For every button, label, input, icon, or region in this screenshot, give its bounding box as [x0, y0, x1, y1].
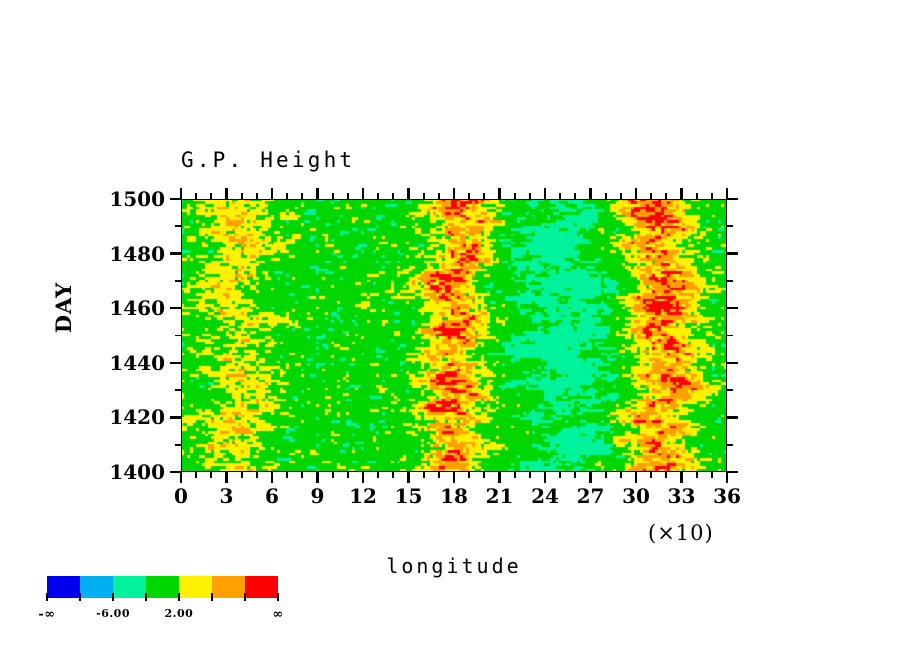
x-axis-tick — [514, 193, 516, 199]
y-axis-tick — [175, 444, 181, 446]
y-axis-tick — [175, 335, 181, 337]
x-axis-tick — [195, 193, 197, 199]
x-axis-tick — [332, 193, 334, 199]
x-axis-tick — [589, 188, 591, 199]
x-axis-tick — [726, 472, 728, 483]
x-axis-tick — [650, 193, 652, 199]
x-axis-tick — [680, 188, 682, 199]
x-axis-tick — [423, 472, 425, 478]
x-axis-tick — [559, 472, 561, 478]
colorbar-label: -6.00 — [96, 607, 130, 620]
colorbar-tick — [244, 593, 246, 601]
y-axis-tick — [170, 252, 181, 254]
x-axis-tick — [347, 193, 349, 199]
x-axis-tick — [392, 472, 394, 478]
x-axis-tick-label: 33 — [668, 484, 696, 508]
x-axis-tick — [377, 193, 379, 199]
x-axis-tick-label: 9 — [311, 484, 325, 508]
x-axis-tick — [301, 472, 303, 478]
x-axis-tick — [696, 193, 698, 199]
colorbar-label: 2.00 — [164, 607, 193, 620]
x-axis-tick — [574, 472, 576, 478]
x-axis-tick — [468, 193, 470, 199]
x-axis-tick — [362, 472, 364, 483]
x-axis-tick — [438, 193, 440, 199]
y-axis-tick — [170, 416, 181, 418]
x-axis-tick — [574, 193, 576, 199]
x-axis-tick-label: 3 — [220, 484, 234, 508]
x-axis-tick — [711, 472, 713, 478]
x-axis-tick — [407, 472, 409, 483]
x-axis-tick — [286, 193, 288, 199]
colorbar-band — [47, 576, 80, 598]
x-axis-tick — [544, 472, 546, 483]
y-axis-tick — [175, 389, 181, 391]
x-axis-tick — [453, 188, 455, 199]
x-axis-tick — [210, 193, 212, 199]
x-axis-tick — [635, 472, 637, 483]
x-axis-tick — [529, 193, 531, 199]
x-axis-tick — [210, 472, 212, 478]
y-axis-tick-label: 1460 — [0, 296, 165, 320]
x-axis-tick — [225, 188, 227, 199]
colorbar-band — [179, 576, 212, 598]
x-axis-tick — [241, 472, 243, 478]
x-axis-tick — [392, 193, 394, 199]
colorbar-tick — [112, 593, 114, 601]
x-axis-tick — [650, 472, 652, 478]
x-axis-tick — [680, 472, 682, 483]
colorbar-tick — [277, 593, 279, 601]
x-axis-tick — [347, 472, 349, 478]
y-axis-tick — [727, 471, 738, 473]
colorbar-tick — [79, 593, 81, 601]
y-axis-tick — [175, 225, 181, 227]
colorbar-label: -∞ — [38, 607, 55, 622]
y-axis-tick — [170, 471, 181, 473]
page-title: G.P. Height — [181, 148, 355, 172]
x-axis-tick — [514, 472, 516, 478]
x-axis-tick — [316, 188, 318, 199]
y-axis-tick — [727, 362, 738, 364]
y-axis-tick — [727, 335, 733, 337]
x-axis-tick — [635, 188, 637, 199]
colorbar-band — [113, 576, 146, 598]
x-axis-tick — [529, 472, 531, 478]
colorbar-tick — [145, 593, 147, 601]
x-axis-title: longitude — [181, 554, 727, 578]
x-axis-tick — [498, 188, 500, 199]
x-axis-tick — [256, 472, 258, 478]
x-axis-tick — [256, 193, 258, 199]
x-axis-tick-label: 30 — [622, 484, 650, 508]
x-axis-tick — [377, 472, 379, 478]
x-axis-tick — [286, 472, 288, 478]
x-axis-tick — [483, 193, 485, 199]
x-axis-tick — [225, 472, 227, 483]
x-axis-tick — [316, 472, 318, 483]
x-axis-tick-label: 27 — [577, 484, 605, 508]
x-axis-tick-label: 24 — [531, 484, 559, 508]
colorbar-band — [245, 576, 278, 598]
y-axis-tick — [727, 444, 733, 446]
x-axis-tick — [180, 472, 182, 483]
x-axis-multiplier-label: (×10) — [648, 521, 714, 545]
x-axis-tick — [665, 193, 667, 199]
y-axis-tick-label: 1440 — [0, 351, 165, 375]
x-axis-tick — [271, 472, 273, 483]
x-axis-tick — [453, 472, 455, 483]
y-axis-tick — [727, 252, 738, 254]
x-axis-tick — [362, 188, 364, 199]
x-axis-tick-label: 0 — [174, 484, 188, 508]
x-axis-tick — [498, 472, 500, 483]
y-axis-tick — [727, 198, 738, 200]
x-axis-tick-label: 12 — [349, 484, 377, 508]
colorbar-band — [146, 576, 179, 598]
y-axis-tick-label: 1400 — [0, 460, 165, 484]
x-axis-tick — [332, 472, 334, 478]
x-axis-tick — [711, 193, 713, 199]
y-axis-tick — [175, 280, 181, 282]
x-axis-tick — [696, 472, 698, 478]
y-axis-tick — [727, 307, 738, 309]
x-axis-tick-label: 6 — [265, 484, 279, 508]
x-axis-tick — [589, 472, 591, 483]
x-axis-tick — [301, 193, 303, 199]
x-axis-tick-label: 18 — [440, 484, 468, 508]
y-axis-tick-label: 1420 — [0, 405, 165, 429]
y-axis-tick — [727, 389, 733, 391]
colorbar-band — [212, 576, 245, 598]
x-axis-tick — [195, 472, 197, 478]
x-axis-tick-label: 21 — [486, 484, 514, 508]
x-axis-tick — [271, 188, 273, 199]
x-axis-tick — [620, 472, 622, 478]
hovmoller-figure: G.P. Height DAY 036912151821242730333614… — [0, 0, 904, 654]
colorbar-band — [80, 576, 113, 598]
y-axis-tick — [727, 280, 733, 282]
x-axis-tick-label: 36 — [713, 484, 741, 508]
y-axis-tick — [170, 362, 181, 364]
colorbar-label: ∞ — [272, 607, 283, 622]
colorbar-tick — [211, 593, 213, 601]
plot-area — [181, 199, 727, 472]
x-axis-tick — [423, 193, 425, 199]
x-axis-tick — [665, 472, 667, 478]
x-axis-tick — [438, 472, 440, 478]
x-axis-tick — [241, 193, 243, 199]
y-axis-tick-label: 1480 — [0, 242, 165, 266]
x-axis-tick — [483, 472, 485, 478]
x-axis-tick — [605, 193, 607, 199]
x-axis-tick — [407, 188, 409, 199]
x-axis-tick — [605, 472, 607, 478]
y-axis-tick — [170, 307, 181, 309]
heatmap-canvas — [181, 199, 727, 472]
y-axis-tick — [727, 225, 733, 227]
x-axis-tick — [468, 472, 470, 478]
x-axis-tick — [544, 188, 546, 199]
x-axis-tick — [559, 193, 561, 199]
x-axis-tick-label: 15 — [395, 484, 423, 508]
colorbar-tick — [178, 593, 180, 601]
y-axis-tick — [727, 416, 738, 418]
y-axis-tick-label: 1500 — [0, 187, 165, 211]
x-axis-tick — [620, 193, 622, 199]
colorbar-tick — [46, 593, 48, 601]
y-axis-tick — [170, 198, 181, 200]
